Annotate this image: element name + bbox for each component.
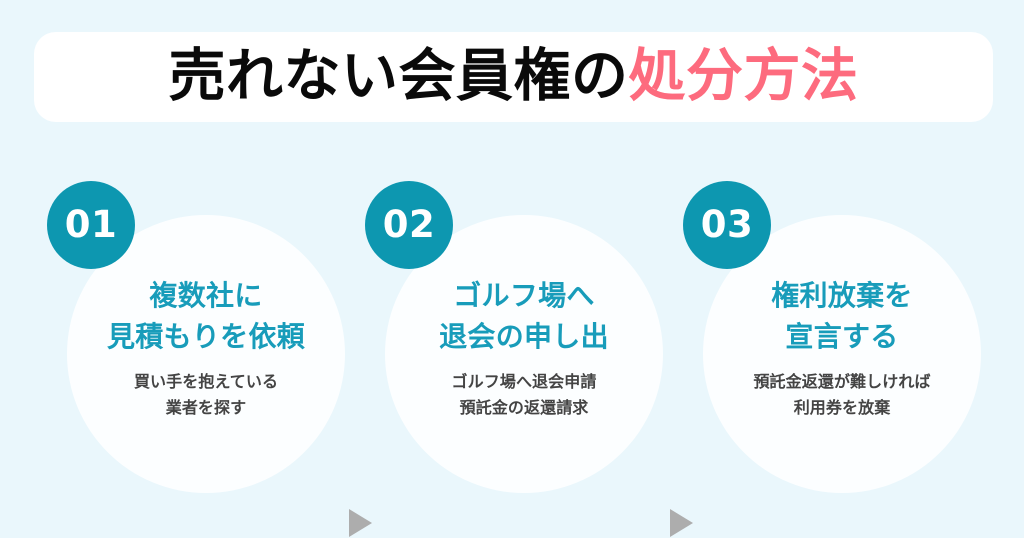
step-description-03: 預託金返還が難しければ 利用券を放棄 (703, 369, 981, 421)
step-item-03: 03 権利放棄を 宣言する 預託金返還が難しければ 利用券を放棄 (681, 175, 981, 485)
step-badge-02: 02 (365, 181, 453, 269)
triangle-right-icon-1 (349, 509, 372, 537)
infographic-root: 売れない会員権の処分方法 01 複数社に 見積もりを依頼 買い手を抱えている 業… (0, 0, 1024, 538)
step-heading-02: ゴルフ場へ 退会の申し出 (385, 275, 663, 357)
step-item-01: 01 複数社に 見積もりを依頼 買い手を抱えている 業者を探す (45, 175, 345, 485)
step-body-02: ゴルフ場へ 退会の申し出 ゴルフ場へ退会申請 預託金の返還請求 (385, 275, 663, 421)
step-description-02: ゴルフ場へ退会申請 預託金の返還請求 (385, 369, 663, 421)
step-description-01: 買い手を抱えている 業者を探す (67, 369, 345, 421)
step-item-02: 02 ゴルフ場へ 退会の申し出 ゴルフ場へ退会申請 預託金の返還請求 (363, 175, 663, 485)
step-number-02: 02 (383, 206, 436, 243)
page-title-accent: 処分方法 (629, 43, 859, 109)
step-body-01: 複数社に 見積もりを依頼 買い手を抱えている 業者を探す (67, 275, 345, 421)
step-number-01: 01 (65, 206, 118, 243)
step-badge-01: 01 (47, 181, 135, 269)
page-title-main: 売れない会員権の (169, 43, 629, 109)
step-body-03: 権利放棄を 宣言する 預託金返還が難しければ 利用券を放棄 (703, 275, 981, 421)
step-number-03: 03 (701, 206, 754, 243)
title-banner: 売れない会員権の処分方法 (34, 32, 993, 122)
step-badge-03: 03 (683, 181, 771, 269)
steps-row: 01 複数社に 見積もりを依頼 買い手を抱えている 業者を探す 02 ゴルフ場へ… (0, 175, 1024, 495)
page-title: 売れない会員権の処分方法 (169, 48, 859, 105)
step-heading-03: 権利放棄を 宣言する (703, 275, 981, 357)
step-heading-01: 複数社に 見積もりを依頼 (67, 275, 345, 357)
triangle-right-icon-2 (670, 509, 693, 537)
